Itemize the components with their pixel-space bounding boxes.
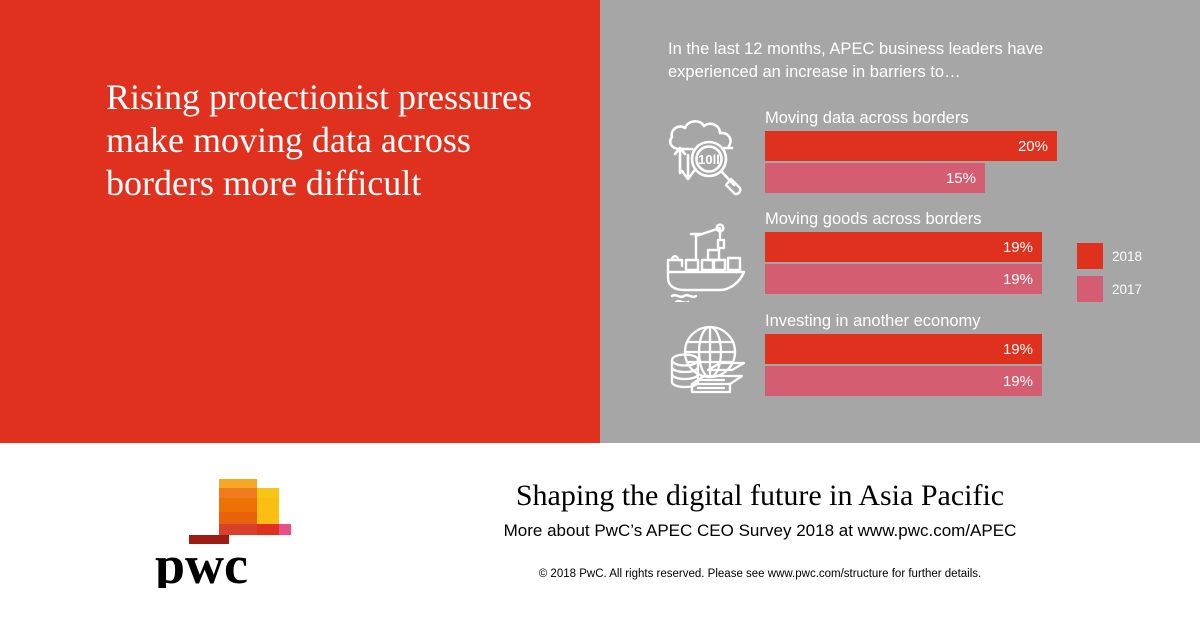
chart-panel: In the last 12 months, APEC business lea… [600,0,1200,443]
page-title: Rising protectionist pressures make movi… [106,76,556,205]
bar-2018: 19% [765,232,1042,262]
bar-row-2017: 19% [765,366,1042,396]
bar-row-2018: 19% [765,232,1042,262]
chart-group-label: Moving goods across borders [765,210,981,229]
bar-value-label: 19% [1003,271,1042,288]
bar-value-label: 20% [1018,138,1057,155]
bar-2017: 19% [765,264,1042,294]
legend-label-2018: 2018 [1112,249,1142,264]
chart-legend: 2018 2017 [1077,243,1142,309]
chart-group-label: Moving data across borders [765,109,969,128]
bar-2017: 15% [765,163,985,193]
legend-item-2018: 2018 [1077,243,1142,269]
bar-row-2018: 20% [765,131,1057,161]
bar-value-label: 19% [1003,373,1042,390]
footer-tagline: Shaping the digital future in Asia Pacif… [440,478,1080,514]
pwc-logo: pwc [137,473,317,588]
bar-value-label: 15% [946,170,985,187]
bar-row-2017: 19% [765,264,1042,294]
headline-panel: Rising protectionist pressures make movi… [0,0,600,443]
chart-group-label: Investing in another economy [765,312,981,331]
bar-2018: 19% [765,334,1042,364]
legend-swatch-2018 [1077,243,1103,269]
footer-subline: More about PwC’s APEC CEO Survey 2018 at… [440,521,1080,541]
bar-row-2017: 15% [765,163,985,193]
bar-value-label: 19% [1003,341,1042,358]
globe-money-icon [658,318,754,404]
cargo-ship-icon [658,216,754,302]
cloud-data-search-icon: 10ll [658,115,754,201]
chart-intro-text: In the last 12 months, APEC business lea… [668,38,1108,84]
bar-value-label: 19% [1003,239,1042,256]
footer-copyright: © 2018 PwC. All rights reserved. Please … [440,568,1080,580]
svg-text:10ll: 10ll [698,152,720,167]
legend-label-2017: 2017 [1112,282,1142,297]
legend-item-2017: 2017 [1077,276,1142,302]
footer-text: Shaping the digital future in Asia Pacif… [440,478,1080,580]
bar-2017: 19% [765,366,1042,396]
bar-2018: 20% [765,131,1057,161]
bar-row-2018: 19% [765,334,1042,364]
pwc-logo-wordmark: pwc [155,535,248,588]
infographic-top-area: Rising protectionist pressures make movi… [0,0,1200,443]
footer: pwc Shaping the digital future in Asia P… [0,443,1200,630]
legend-swatch-2017 [1077,276,1103,302]
